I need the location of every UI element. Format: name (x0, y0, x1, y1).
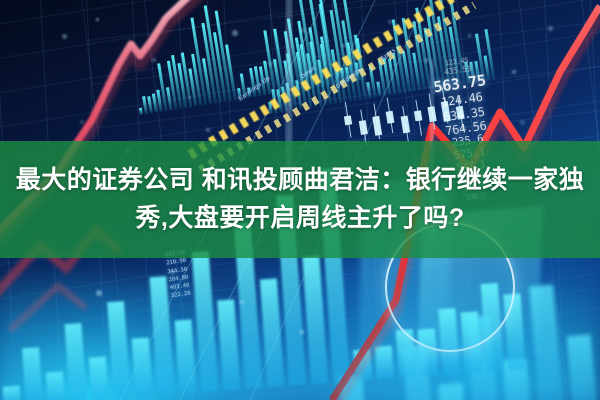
light-speck (268, 62, 272, 66)
candlestick (385, 110, 395, 133)
light-speck (300, 330, 304, 334)
light-speck (468, 34, 471, 37)
light-speck (424, 58, 429, 63)
light-speck (452, 108, 455, 111)
candlestick (358, 114, 368, 137)
light-speck (548, 26, 553, 31)
light-speck (96, 18, 99, 21)
headline-line-2: 秀,大盘要开启周线主升了吗? (135, 201, 464, 237)
light-speck (62, 34, 67, 39)
light-speck (240, 300, 244, 304)
light-speck (96, 290, 102, 296)
candlestick (372, 112, 382, 135)
light-speck (80, 120, 84, 124)
light-speck (512, 70, 516, 74)
light-speck (300, 28, 305, 33)
light-speck (342, 44, 345, 47)
light-speck (170, 270, 175, 275)
light-speck (388, 20, 392, 24)
headline-line-1: 最大的证券公司 和讯投顾曲君洁：银行继续一家独 (16, 163, 584, 199)
light-speck (232, 30, 238, 36)
light-speck (206, 128, 210, 132)
light-speck (152, 58, 156, 62)
light-speck (188, 96, 191, 99)
screenshot-canvas: 122.45435.53563.75124.46634.35764.56235.… (0, 0, 600, 400)
light-speck (520, 120, 525, 125)
headline-band: 最大的证券公司 和讯投顾曲君洁：银行继续一家独 秀,大盘要开启周线主升了吗? (0, 141, 600, 258)
